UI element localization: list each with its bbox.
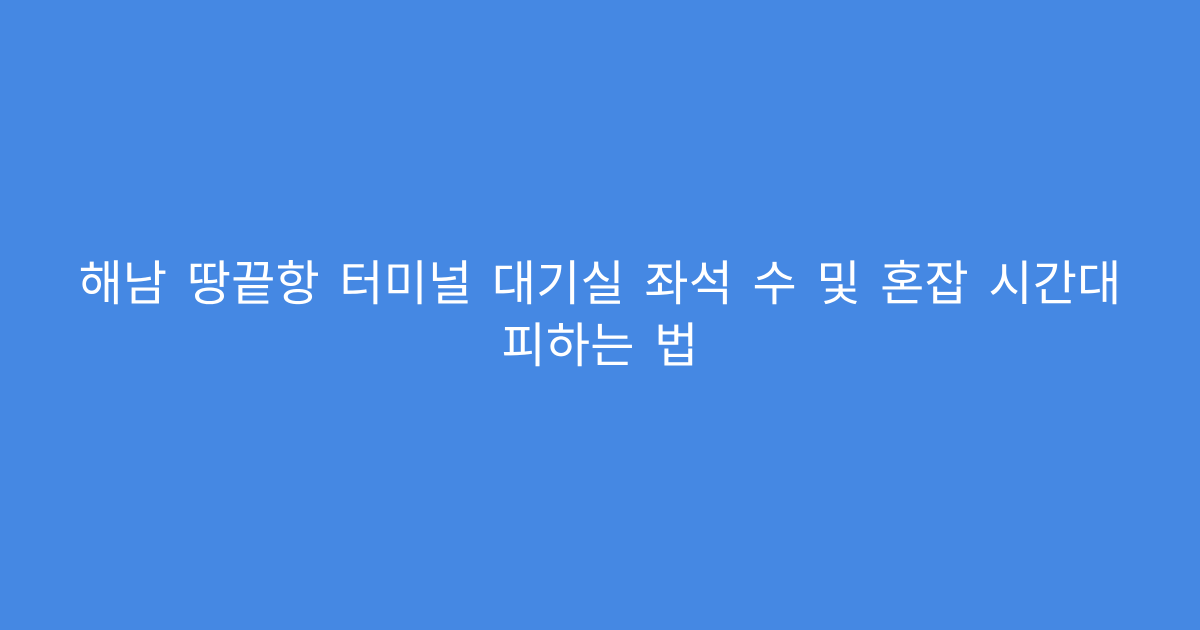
title-card: 해남 땅끝항 터미널 대기실 좌석 수 및 혼잡 시간대 피하는 법 [0, 0, 1200, 630]
page-title: 해남 땅끝항 터미널 대기실 좌석 수 및 혼잡 시간대 피하는 법 [56, 253, 1144, 377]
